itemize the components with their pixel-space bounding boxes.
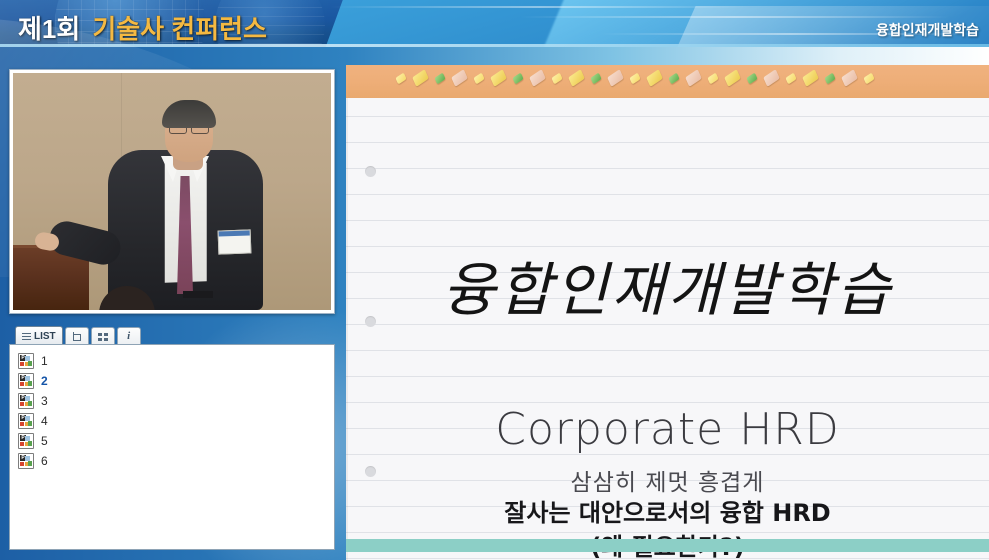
tab-info[interactable]: i — [117, 327, 141, 345]
powerpoint-icon-shape-green — [28, 381, 32, 386]
candy-icon — [607, 69, 624, 87]
tab-thumbnails[interactable] — [91, 327, 115, 345]
powerpoint-document-icon: P — [18, 353, 34, 369]
candy-icon — [785, 72, 796, 84]
list-item[interactable]: P 3 — [10, 391, 334, 411]
candy-icon — [451, 69, 468, 87]
outline-tree-icon — [72, 332, 82, 342]
page-header: 제1회기술사 컨퍼런스 융합인재개발학습 — [0, 0, 989, 47]
slide-body-line-1: 삼삼히 제멋 흥겹게 — [346, 463, 989, 497]
slide-viewer[interactable]: 융합인재개발학습 Corporate HRD 삼삼히 제멋 흥겹게 잘사는 대안… — [346, 65, 989, 560]
slide-band-pattern — [396, 73, 874, 83]
powerpoint-icon-shape-green — [28, 441, 32, 446]
candy-icon — [395, 72, 406, 84]
video-badge-header-bar — [219, 230, 250, 236]
slide-main-title: 융합인재개발학습 — [346, 243, 989, 327]
slide-footer-bar — [346, 539, 989, 552]
candy-icon — [724, 69, 741, 87]
presentation-viewer: 제1회기술사 컨퍼런스 융합인재개발학습 — [0, 0, 989, 560]
presenter-video-frame[interactable] — [13, 73, 331, 310]
list-item[interactable]: P 4 — [10, 411, 334, 431]
slide-body-line-2: 잘사는 대안으로서의 융합 HRD — [346, 493, 989, 528]
video-presenter-belt — [183, 291, 213, 298]
candy-icon — [802, 69, 819, 87]
tab-list-label: LIST — [34, 331, 56, 342]
list-item-label: 3 — [41, 394, 48, 408]
list-item-label: 4 — [41, 414, 48, 428]
slide-list-body[interactable]: P 1 P 2 P — [9, 344, 335, 550]
powerpoint-document-icon: P — [18, 393, 34, 409]
candy-icon — [824, 72, 835, 84]
candy-icon — [646, 69, 663, 87]
candy-icon — [590, 72, 601, 84]
list-item[interactable]: P 6 — [10, 451, 334, 471]
list-item-label: 1 — [41, 354, 48, 368]
powerpoint-icon-shape-red — [20, 422, 24, 426]
list-item[interactable]: P 1 — [10, 351, 334, 371]
list-item-label: 5 — [41, 434, 48, 448]
powerpoint-document-icon: P — [18, 453, 34, 469]
video-presenter-name-badge — [218, 229, 252, 254]
header-right-title: 융합인재개발학습 — [876, 20, 979, 40]
candy-icon — [551, 72, 562, 84]
powerpoint-icon-shape-green — [28, 401, 32, 406]
candy-icon — [529, 69, 546, 87]
slide-list-tabs: LIST i — [15, 326, 141, 345]
candy-icon — [685, 69, 702, 87]
powerpoint-icon-shape-red — [20, 462, 24, 466]
powerpoint-icon-shape-green — [28, 461, 32, 466]
presenter-video-panel[interactable] — [9, 69, 335, 314]
candy-icon — [412, 69, 429, 87]
powerpoint-icon-shape-red — [20, 442, 24, 446]
candy-icon — [763, 69, 780, 87]
info-icon: i — [127, 331, 130, 342]
slide-decorative-band — [346, 65, 989, 98]
candy-icon — [490, 69, 507, 87]
powerpoint-document-icon: P — [18, 373, 34, 389]
candy-icon — [512, 72, 523, 84]
slide-subtitle-english: Corporate HRD — [346, 404, 989, 455]
list-lines-icon — [22, 333, 31, 340]
candy-icon — [841, 69, 858, 87]
candy-icon — [707, 72, 718, 84]
list-item[interactable]: P 5 — [10, 431, 334, 451]
powerpoint-icon-shape-green — [28, 421, 32, 426]
list-item[interactable]: P 2 — [10, 371, 334, 391]
candy-icon — [746, 72, 757, 84]
tab-list[interactable]: LIST — [15, 326, 63, 345]
list-item-label: 2 — [41, 374, 48, 388]
powerpoint-document-icon: P — [18, 433, 34, 449]
tab-outline[interactable] — [65, 327, 89, 345]
candy-icon — [863, 72, 874, 84]
list-item-label: 6 — [41, 454, 48, 468]
header-streak-1 — [330, 6, 750, 8]
powerpoint-icon-shape-red — [20, 402, 24, 406]
powerpoint-icon-shape-red — [20, 362, 24, 366]
thumbnail-grid-icon — [98, 333, 108, 341]
powerpoint-icon-shape-green — [28, 361, 32, 366]
candy-icon — [629, 72, 640, 84]
conference-title-accent: 기술사 컨퍼런스 — [92, 14, 267, 44]
candy-icon — [568, 69, 585, 87]
candy-icon — [434, 72, 445, 84]
candy-icon — [473, 72, 484, 84]
slide-list-panel: LIST i P 1 — [9, 326, 335, 550]
binder-hole-icon — [365, 166, 376, 177]
powerpoint-document-icon: P — [18, 413, 34, 429]
candy-icon — [668, 72, 679, 84]
header-streak-2 — [520, 16, 950, 18]
powerpoint-icon-shape-red — [20, 382, 24, 386]
